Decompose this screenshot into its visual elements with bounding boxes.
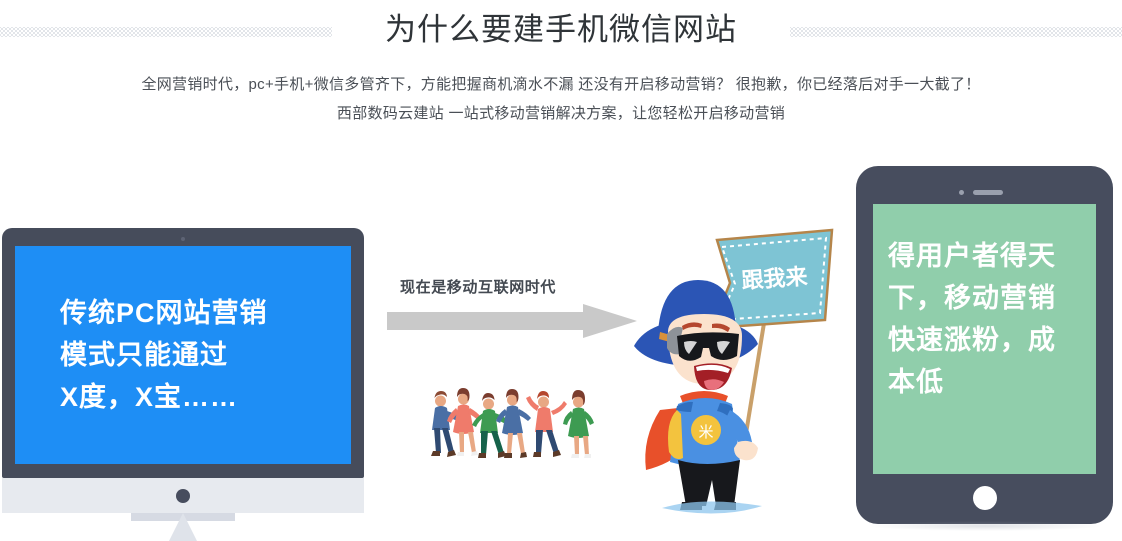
phone-camera-icon: [959, 190, 964, 195]
person-5: [526, 391, 567, 457]
hero-shoulder-left: [676, 402, 693, 412]
superhero-mascot-illustration: 跟我来 米: [620, 228, 850, 523]
mobile-phone-illustration: 得用户者得天 下，移动营销 快速涨粉，成 本低: [856, 166, 1113, 524]
desktop-screen-text: 传统PC网站营销 模式只能通过 X度，X宝……: [15, 292, 268, 418]
promo-banner: 为什么要建手机微信网站 全网营销时代，pc+手机+微信多管齐下，方能把握商机滴水…: [0, 0, 1122, 541]
desktop-monitor-illustration: 传统PC网站营销 模式只能通过 X度，X宝……: [2, 228, 364, 478]
hero-ground-splash: [662, 501, 762, 513]
phone-screen: 得用户者得天 下，移动营销 快速涨粉，成 本低: [873, 204, 1096, 474]
monitor-power-button-icon: [176, 489, 190, 503]
phone-screen-text: 得用户者得天 下，移动营销 快速涨粉，成 本低: [873, 235, 1056, 443]
crowd-of-people-illustration: [425, 378, 610, 473]
subtitle-line-2: 西部数码云建站 一站式移动营销解决方案，让您轻松开启移动营销: [0, 101, 1122, 127]
subtitle-line-1: 全网营销时代，pc+手机+微信多管齐下，方能把握商机滴水不漏 还没有开启移动营销…: [0, 72, 1122, 98]
phone-drop-shadow: [870, 521, 1100, 531]
monitor-camera-icon: [181, 237, 185, 241]
hero-trousers: [678, 460, 740, 506]
person-6: [563, 390, 594, 458]
phone-home-button-icon: [973, 486, 997, 510]
monitor-stand-neck: [157, 513, 209, 541]
arrow-caption: 现在是移动互联网时代: [400, 276, 556, 297]
monitor-screen: 传统PC网站营销 模式只能通过 X度，X宝……: [15, 246, 351, 464]
flag-text: 跟我来: [741, 264, 810, 294]
phone-speaker-icon: [973, 190, 1003, 195]
page-title: 为什么要建手机微信网站: [0, 8, 1122, 52]
transition-arrow-group: 现在是移动互联网时代: [387, 276, 637, 340]
right-arrow-icon: [387, 304, 637, 338]
hero-badge-text: 米: [698, 424, 713, 441]
monitor-chin: [2, 478, 364, 513]
